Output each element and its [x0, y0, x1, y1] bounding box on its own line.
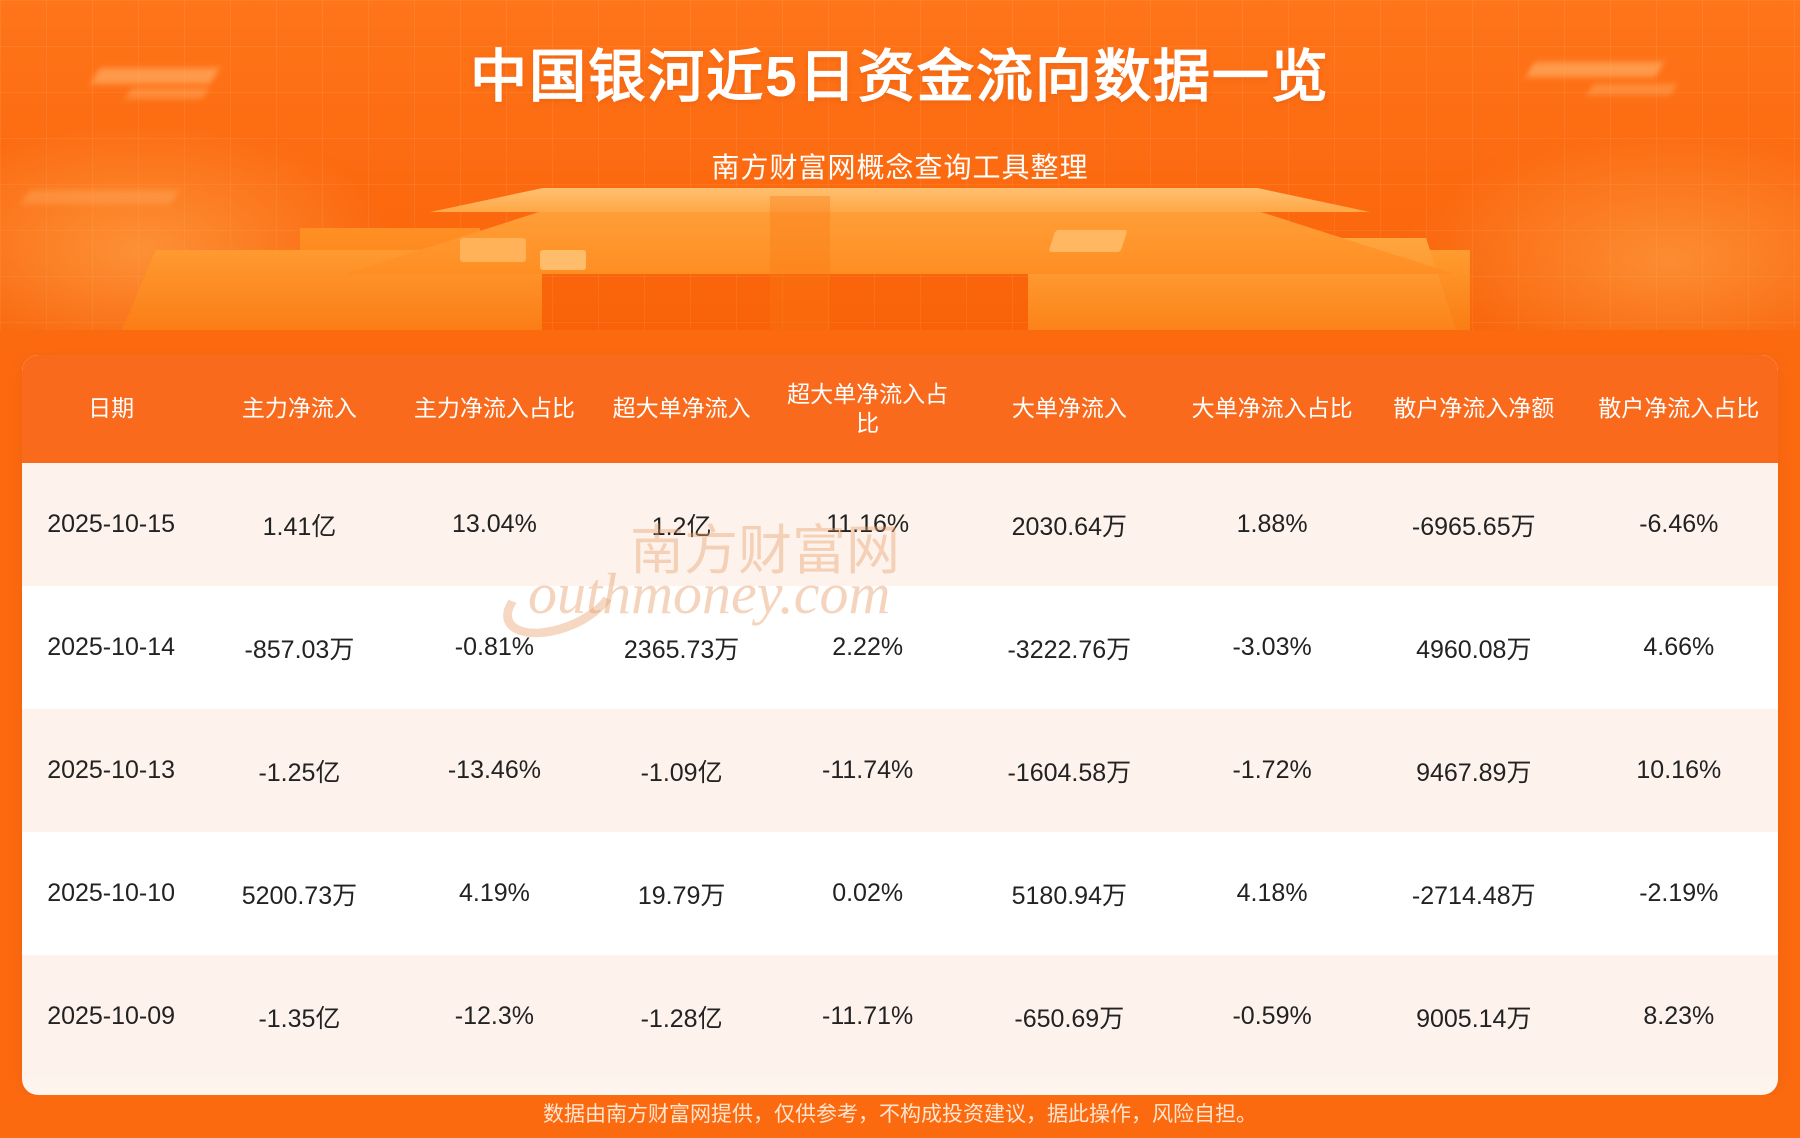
cell-main-net: 1.41亿 — [200, 463, 398, 586]
table-row: 2025-10-09 -1.35亿 -12.3% -1.28亿 -11.71% … — [22, 955, 1778, 1078]
cell-xl-net: 19.79万 — [590, 832, 773, 955]
cell-retail-net: -2714.48万 — [1368, 832, 1580, 955]
column-header-date[interactable]: 日期 — [22, 355, 200, 463]
column-header-retail-net[interactable]: 散户净流入净额 — [1368, 355, 1580, 463]
pedestal-accent — [460, 238, 526, 262]
pedestal-shadow — [770, 196, 830, 330]
pedestal-accent — [1048, 230, 1127, 252]
cell-retail-pct: 4.66% — [1580, 586, 1778, 709]
header-row: 日期 主力净流入 主力净流入占比 超大单净流入 超大单净流入占比 大单净流入 大… — [22, 355, 1778, 463]
cell-large-net: 5180.94万 — [962, 832, 1176, 955]
cell-large-pct: -1.72% — [1176, 709, 1368, 832]
cell-xl-pct: 11.16% — [773, 463, 962, 586]
cell-main-pct: -0.81% — [399, 586, 591, 709]
table-row: 2025-10-15 1.41亿 13.04% 1.2亿 11.16% 2030… — [22, 463, 1778, 586]
cell-large-pct: -3.03% — [1176, 586, 1368, 709]
cell-main-pct: -12.3% — [399, 955, 591, 1078]
table-row: 2025-10-14 -857.03万 -0.81% 2365.73万 2.22… — [22, 586, 1778, 709]
cell-xl-net: -1.28亿 — [590, 955, 773, 1078]
cell-xl-pct: -11.71% — [773, 955, 962, 1078]
column-header-retail-pct[interactable]: 散户净流入占比 — [1580, 355, 1778, 463]
cell-main-net: 5200.73万 — [200, 832, 398, 955]
light-streak — [21, 190, 178, 204]
cell-main-pct: 13.04% — [399, 463, 591, 586]
cell-date: 2025-10-13 — [22, 709, 200, 832]
cell-retail-pct: -2.19% — [1580, 832, 1778, 955]
cell-xl-net: 1.2亿 — [590, 463, 773, 586]
page-title: 中国银河近5日资金流向数据一览 — [0, 42, 1800, 113]
table-header: 日期 主力净流入 主力净流入占比 超大单净流入 超大单净流入占比 大单净流入 大… — [22, 355, 1778, 463]
cell-main-net: -1.25亿 — [200, 709, 398, 832]
cell-large-pct: 1.88% — [1176, 463, 1368, 586]
table-body: 2025-10-15 1.41亿 13.04% 1.2亿 11.16% 2030… — [22, 463, 1778, 1078]
cell-retail-pct: 10.16% — [1580, 709, 1778, 832]
pedestal-block — [430, 188, 1370, 212]
cell-retail-pct: -6.46% — [1580, 463, 1778, 586]
cell-date: 2025-10-14 — [22, 586, 200, 709]
pedestal-accent — [540, 250, 586, 270]
cell-main-net: -1.35亿 — [200, 955, 398, 1078]
cell-xl-net: -1.09亿 — [590, 709, 773, 832]
fund-flow-table: 日期 主力净流入 主力净流入占比 超大单净流入 超大单净流入占比 大单净流入 大… — [22, 355, 1778, 1078]
page-subtitle: 南方财富网概念查询工具整理 — [0, 146, 1800, 186]
column-header-large-pct[interactable]: 大单净流入占比 — [1176, 355, 1368, 463]
cell-xl-pct: -11.74% — [773, 709, 962, 832]
cell-retail-pct: 8.23% — [1580, 955, 1778, 1078]
cell-main-net: -857.03万 — [200, 586, 398, 709]
cell-large-pct: -0.59% — [1176, 955, 1368, 1078]
cell-xl-pct: 0.02% — [773, 832, 962, 955]
table-row: 2025-10-10 5200.73万 4.19% 19.79万 0.02% 5… — [22, 832, 1778, 955]
cell-large-net: -3222.76万 — [962, 586, 1176, 709]
footer-disclaimer: 数据由南方财富网提供，仅供参考，不构成投资建议，据此操作，风险自担。 — [0, 1098, 1800, 1128]
cell-date: 2025-10-10 — [22, 832, 200, 955]
cell-retail-net: 9005.14万 — [1368, 955, 1580, 1078]
cell-retail-net: -6965.65万 — [1368, 463, 1580, 586]
cell-retail-net: 9467.89万 — [1368, 709, 1580, 832]
cell-large-net: -650.69万 — [962, 955, 1176, 1078]
cell-main-pct: 4.19% — [399, 832, 591, 955]
cell-main-pct: -13.46% — [399, 709, 591, 832]
table-row: 2025-10-13 -1.25亿 -13.46% -1.09亿 -11.74%… — [22, 709, 1778, 832]
cell-large-net: 2030.64万 — [962, 463, 1176, 586]
cell-date: 2025-10-15 — [22, 463, 200, 586]
column-header-main-pct[interactable]: 主力净流入占比 — [399, 355, 591, 463]
column-header-xl-pct[interactable]: 超大单净流入占比 — [773, 355, 962, 463]
cell-xl-pct: 2.22% — [773, 586, 962, 709]
cell-large-pct: 4.18% — [1176, 832, 1368, 955]
cell-large-net: -1604.58万 — [962, 709, 1176, 832]
column-header-large-net[interactable]: 大单净流入 — [962, 355, 1176, 463]
data-table-card: 日期 主力净流入 主力净流入占比 超大单净流入 超大单净流入占比 大单净流入 大… — [22, 355, 1778, 1095]
cell-date: 2025-10-09 — [22, 955, 200, 1078]
cell-xl-net: 2365.73万 — [590, 586, 773, 709]
column-header-xl-net[interactable]: 超大单净流入 — [590, 355, 773, 463]
cell-retail-net: 4960.08万 — [1368, 586, 1580, 709]
column-header-main-net[interactable]: 主力净流入 — [200, 355, 398, 463]
